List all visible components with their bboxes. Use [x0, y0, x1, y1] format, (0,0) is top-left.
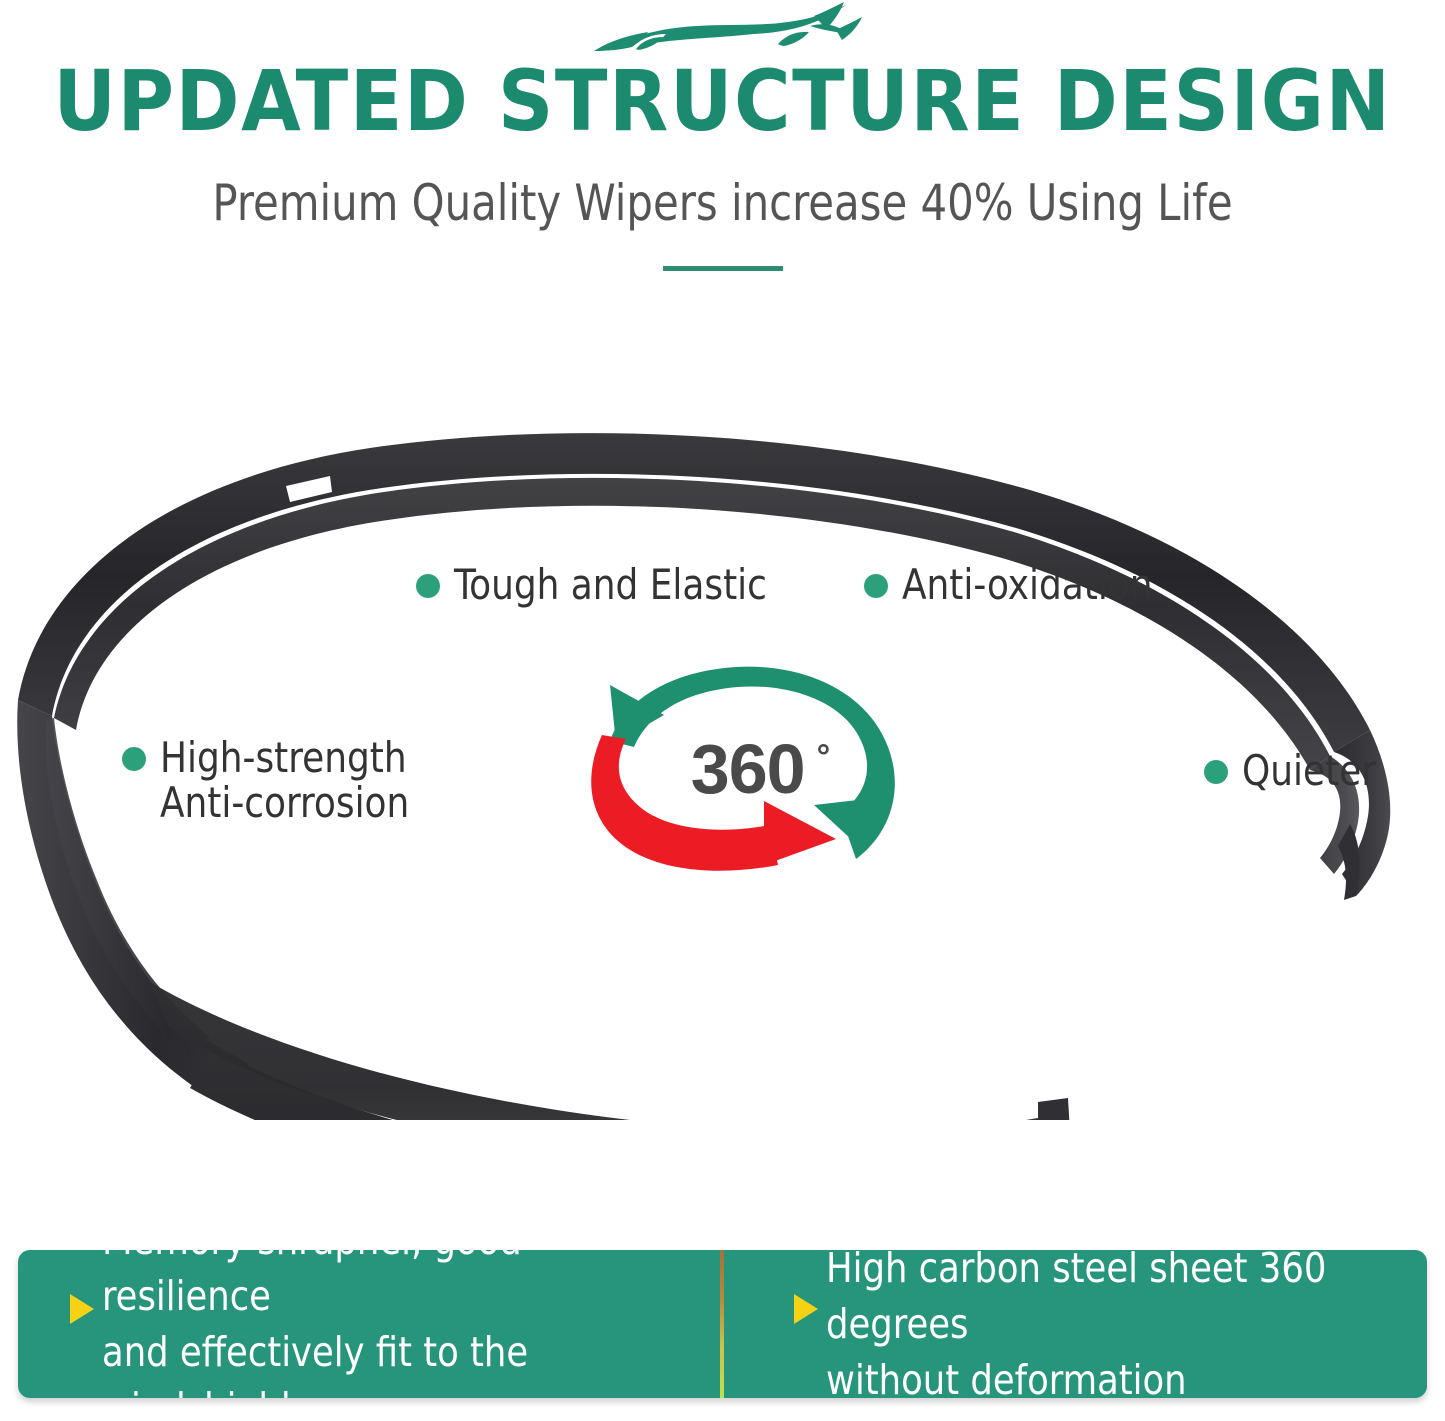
- feature-label: Anti-oxidation: [902, 562, 1153, 607]
- bullet-dot-icon: [122, 747, 146, 771]
- sports-car-silhouette-icon: [578, 2, 868, 58]
- feature-label: Quieter: [1242, 748, 1376, 793]
- yellow-triangle-bullet-icon: [794, 1294, 818, 1324]
- badge-360-degrees: 360°: [568, 655, 928, 875]
- title-divider-rule: [663, 266, 783, 271]
- banner-panel-text: High carbon steel sheet 360 degrees with…: [826, 1250, 1383, 1398]
- red-rotation-arrow: [591, 735, 778, 871]
- strip-notch-b: [278, 540, 320, 564]
- feature-label: High-strength Anti-corrosion: [160, 735, 409, 825]
- brand-logo: [0, 2, 1445, 58]
- page-subtitle: Premium Quality Wipers increase 40% Usin…: [51, 172, 1395, 234]
- banner-panel-high-carbon-steel: High carbon steel sheet 360 degrees with…: [724, 1250, 1427, 1398]
- bullet-dot-icon: [1204, 760, 1228, 784]
- banner-panel-text: Memory shrapnel, good resilience and eff…: [102, 1250, 677, 1398]
- banner-panel-memory-shrapnel: Memory shrapnel, good resilience and eff…: [18, 1250, 720, 1398]
- feature-callout-high-strength: High-strength Anti-corrosion: [122, 735, 422, 825]
- strip-end-cap-upper: [1002, 1098, 1072, 1120]
- bullet-dot-icon: [416, 574, 440, 598]
- feature-callout-tough-elastic: Tough and Elastic: [416, 562, 783, 607]
- feature-label: Tough and Elastic: [454, 562, 767, 607]
- marketing-infographic: UPDATED STRUCTURE DESIGN Premium Quality…: [0, 0, 1445, 1421]
- rotation-360-arrows-icon: [568, 655, 928, 875]
- feature-banner: Memory shrapnel, good resilience and eff…: [18, 1250, 1427, 1398]
- page-title: UPDATED STRUCTURE DESIGN: [0, 58, 1445, 144]
- yellow-triangle-bullet-icon: [70, 1294, 94, 1324]
- feature-callout-quieter: Quieter: [1204, 748, 1383, 793]
- feature-callout-anti-oxidation: Anti-oxidation: [864, 562, 1166, 607]
- bullet-dot-icon: [864, 574, 888, 598]
